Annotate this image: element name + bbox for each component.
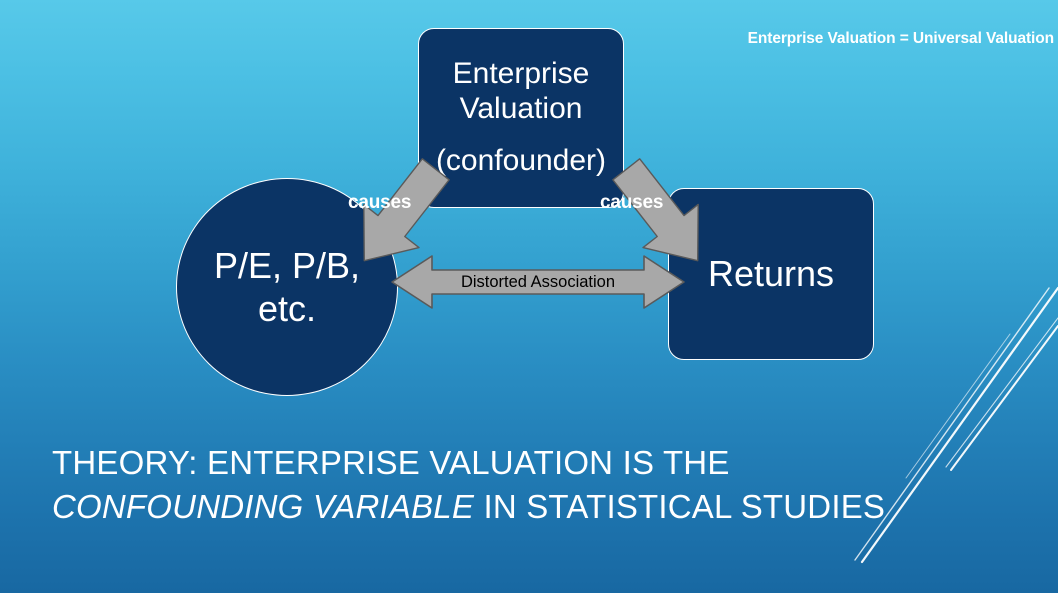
causes-right-label: causes <box>600 192 663 214</box>
node-valuation-metrics-line1: P/E, P/B, <box>214 244 360 287</box>
distorted-association-label: Distorted Association <box>428 273 648 292</box>
caption-part1: THEORY: ENTERPRISE VALUATION IS THE <box>52 444 730 481</box>
node-valuation-metrics-line2: etc. <box>258 287 316 330</box>
node-enterprise-valuation-line1: Enterprise <box>453 57 590 92</box>
node-enterprise-valuation-line2: Valuation <box>460 92 583 127</box>
node-enterprise-valuation[interactable]: Enterprise Valuation (confounder) <box>418 28 624 208</box>
slide-caption: THEORY: ENTERPRISE VALUATION IS THE CONF… <box>52 441 952 529</box>
caption-part2: IN STATISTICAL STUDIES <box>474 488 885 525</box>
caption-emphasis: CONFOUNDING VARIABLE <box>52 488 474 525</box>
node-enterprise-valuation-subtitle: (confounder) <box>436 144 606 179</box>
causes-left-label: causes <box>348 192 411 214</box>
node-returns-label: Returns <box>708 253 834 295</box>
header-note: Enterprise Valuation = Universal Valuati… <box>748 30 1054 48</box>
slide-canvas: Enterprise Valuation = Universal Valuati… <box>0 0 1058 593</box>
node-returns[interactable]: Returns <box>668 188 874 360</box>
